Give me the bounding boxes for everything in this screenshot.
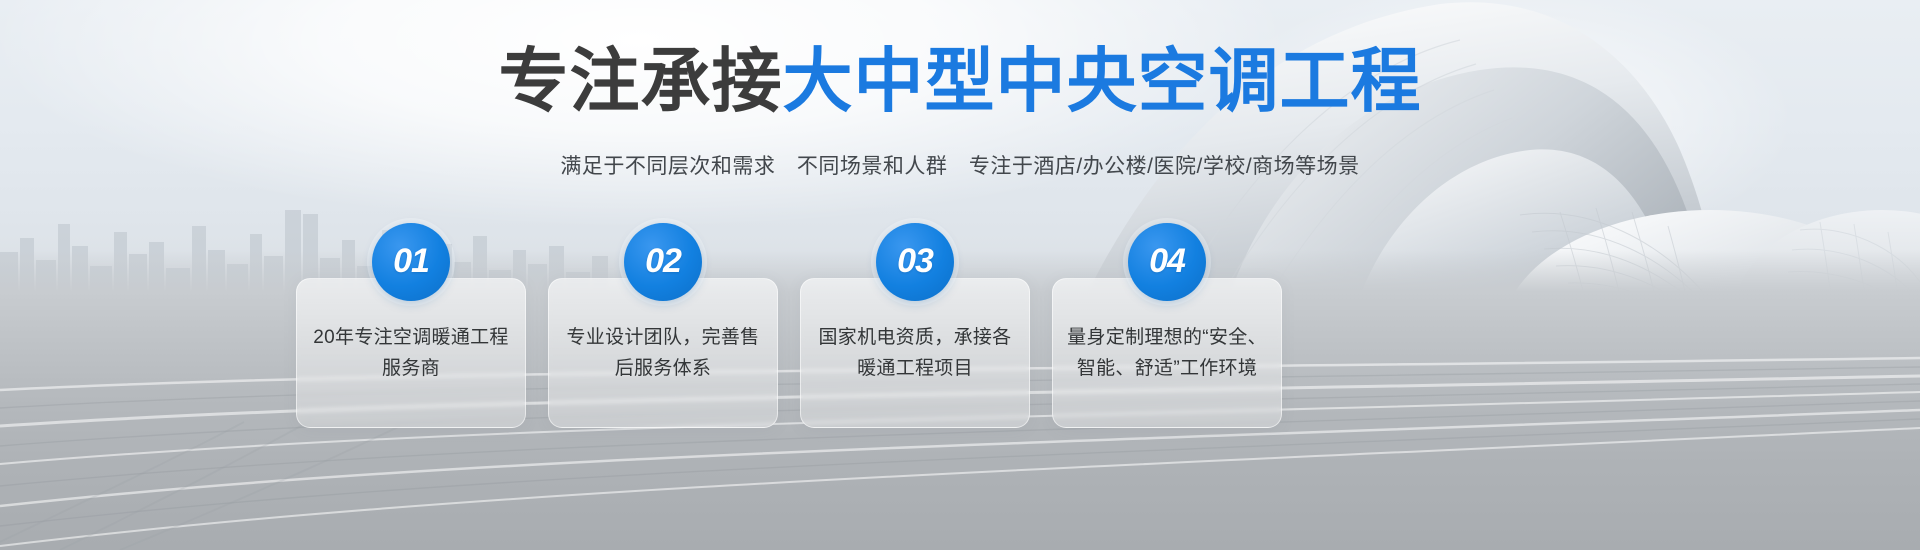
- feature-number-badge: 01: [372, 223, 450, 301]
- feature-card[interactable]: 04 量身定制理想的“安全、智能、舒适”工作环境: [1052, 278, 1282, 428]
- feature-text: 量身定制理想的“安全、智能、舒适”工作环境: [1067, 323, 1267, 385]
- feature-text: 国家机电资质，承接各暖通工程项目: [815, 323, 1015, 385]
- feature-number: 04: [1149, 242, 1185, 281]
- feature-card[interactable]: 02 专业设计团队，完善售后服务体系: [548, 278, 778, 428]
- feature-number: 01: [393, 242, 429, 281]
- feature-number: 03: [897, 242, 933, 281]
- headline-part-dark: 专注承接: [499, 42, 783, 120]
- subtitle: 满足于不同层次和需求 不同场景和人群 专注于酒店/办公楼/医院/学校/商场等场景: [0, 150, 1920, 180]
- feature-card-list: 01 20年专注空调暖通工程服务商 02 专业设计团队，完善售后服务体系 03 …: [296, 278, 1282, 428]
- feature-card[interactable]: 03 国家机电资质，承接各暖通工程项目: [800, 278, 1030, 428]
- feature-number: 02: [645, 242, 681, 281]
- hero-banner: 专注承接大中型中央空调工程 满足于不同层次和需求 不同场景和人群 专注于酒店/办…: [0, 0, 1920, 550]
- headline: 专注承接大中型中央空调工程: [0, 44, 1920, 118]
- feature-card[interactable]: 01 20年专注空调暖通工程服务商: [296, 278, 526, 428]
- feature-number-badge: 02: [624, 223, 702, 301]
- feature-number-badge: 04: [1128, 223, 1206, 301]
- headline-part-blue: 大中型中央空调工程: [783, 42, 1422, 120]
- feature-text: 专业设计团队，完善售后服务体系: [563, 323, 763, 385]
- feature-text: 20年专注空调暖通工程服务商: [311, 323, 511, 385]
- feature-number-badge: 03: [876, 223, 954, 301]
